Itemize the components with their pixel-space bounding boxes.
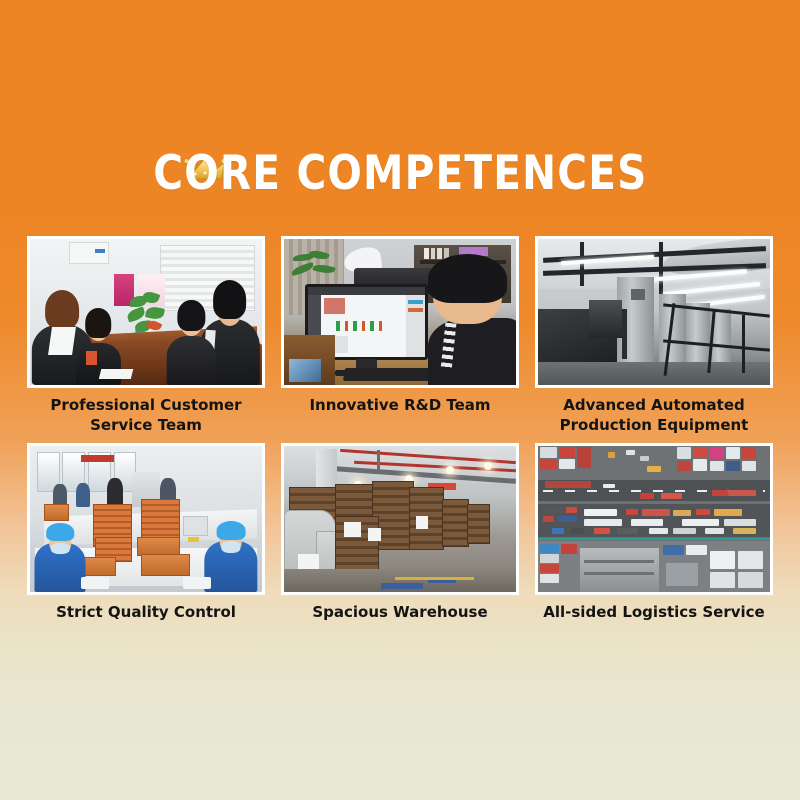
competence-item-advanced-automated-production-equipment[interactable]: Advanced Automated Production Equipment [535, 236, 773, 435]
scene-printing-press [538, 239, 770, 385]
card-caption-professional-customer-service-team: Professional Customer Service Team [27, 395, 265, 435]
scene-design-workstation [284, 239, 516, 385]
card-caption-innovative-rd-team: Innovative R&D Team [281, 395, 519, 435]
scene-warehouse [284, 446, 516, 592]
card-caption-all-sided-logistics-service: All-sided Logistics Service [535, 602, 773, 642]
card-image-strict-quality-control[interactable] [27, 443, 265, 595]
scene-meeting-room [30, 239, 262, 385]
competence-item-spacious-warehouse[interactable]: Spacious Warehouse [281, 443, 519, 642]
page-title: CORE COMPETENCES [153, 148, 647, 200]
competence-item-all-sided-logistics-service[interactable]: All-sided Logistics Service [535, 443, 773, 642]
competence-item-innovative-rd-team[interactable]: Innovative R&D Team [281, 236, 519, 435]
card-image-spacious-warehouse[interactable] [281, 443, 519, 595]
card-image-advanced-automated-production-equipment[interactable] [535, 236, 773, 388]
scene-quality-control [30, 446, 262, 592]
card-image-innovative-rd-team[interactable] [281, 236, 519, 388]
card-caption-spacious-warehouse: Spacious Warehouse [281, 602, 519, 642]
card-caption-strict-quality-control: Strict Quality Control [27, 602, 265, 642]
scene-aerial-logistics-yard [538, 446, 770, 592]
competence-item-strict-quality-control[interactable]: Strict Quality Control [27, 443, 265, 642]
caption-line: Production Equipment [535, 415, 773, 435]
caption-line: Professional Customer [27, 395, 265, 415]
caption-line: Strict Quality Control [27, 602, 265, 622]
competence-grid: Professional Customer Service Team [27, 236, 773, 642]
competence-item-professional-customer-service-team[interactable]: Professional Customer Service Team [27, 236, 265, 435]
caption-line: Service Team [27, 415, 265, 435]
card-image-professional-customer-service-team[interactable] [27, 236, 265, 388]
caption-line: All-sided Logistics Service [535, 602, 773, 622]
core-competences-banner: CORE COMPETENCES [0, 0, 800, 800]
caption-line: Innovative R&D Team [281, 395, 519, 415]
caption-line: Advanced Automated [535, 395, 773, 415]
page-title-block: CORE COMPETENCES [0, 148, 800, 200]
card-caption-advanced-automated-production-equipment: Advanced Automated Production Equipment [535, 395, 773, 435]
caption-line: Spacious Warehouse [281, 602, 519, 622]
card-image-all-sided-logistics-service[interactable] [535, 443, 773, 595]
